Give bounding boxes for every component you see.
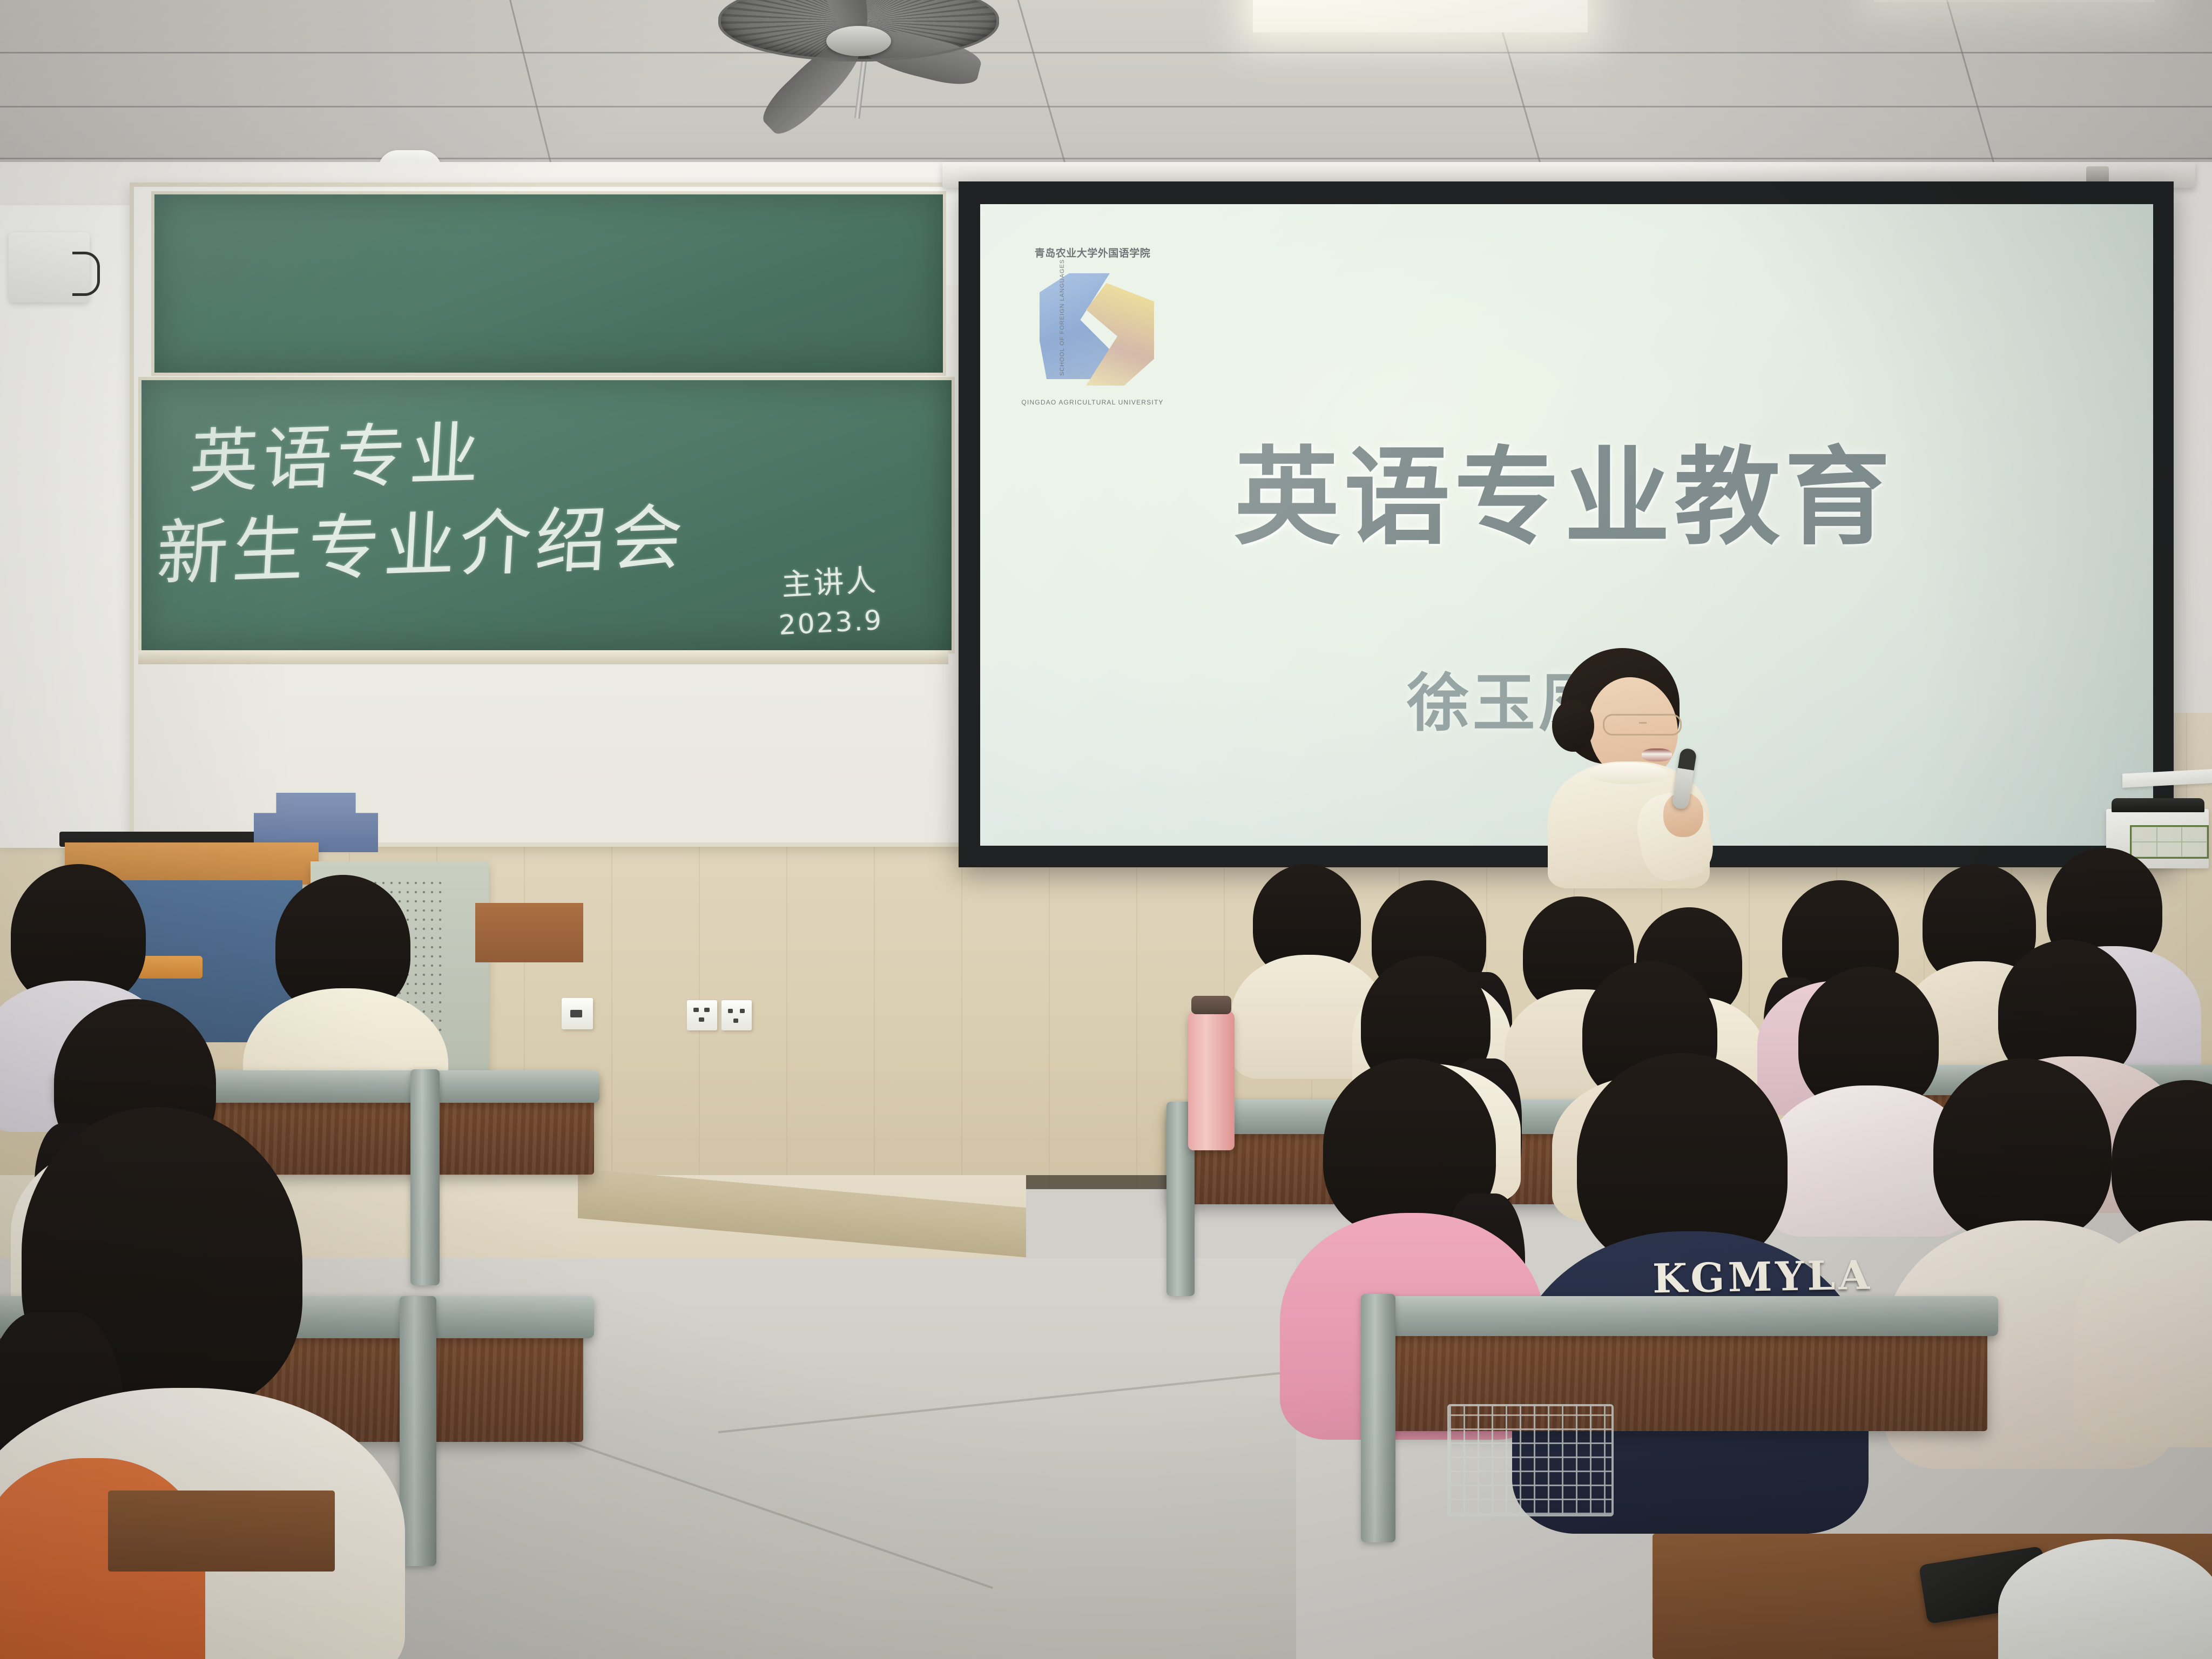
blackboard-date: 2023.9: [778, 604, 884, 641]
logo-english-line-1: SCHOOL OF FOREIGN LANGUAGES: [1059, 259, 1065, 376]
ceiling-fan: [718, 0, 999, 62]
presenter-mouth: [1642, 748, 1672, 761]
slide-title: 英语专业教育: [1234, 412, 1894, 565]
presenter-hair-bun: [1552, 700, 1594, 752]
power-socket-left[interactable]: [687, 1000, 717, 1030]
control-box-label: [2130, 825, 2209, 859]
logo-english-line-2: QINGDAO AGRICULTURAL UNIVERSITY: [1021, 399, 1163, 406]
seat-post-left-mid: [410, 1069, 440, 1285]
seat-back-front-right: [1372, 1296, 1998, 1336]
under-desk-basket: [1447, 1404, 1614, 1516]
led-ceiling-panel: [1253, 0, 1588, 32]
blackboard-speaker-label: 主讲人: [780, 556, 879, 604]
classroom-photo: 英语专业 新生专业介绍会 主讲人 2023.9 青岛农业大学外国语学院 SCHO…: [0, 0, 2212, 1659]
podium-badge: [138, 956, 203, 979]
network-port-outlet[interactable]: [562, 998, 593, 1029]
garment-text: KGMYLA: [1652, 1252, 1873, 1302]
blackboard: 英语专业 新生专业介绍会 主讲人 2023.9: [130, 183, 972, 847]
screen-pull-knob[interactable]: [2086, 166, 2109, 183]
water-bottle: [1188, 1010, 1235, 1150]
logo-chinese-text: 青岛农业大学外国语学院: [1035, 245, 1151, 260]
presenter-glasses-icon: [1603, 714, 1682, 736]
power-socket-right[interactable]: [721, 1000, 752, 1030]
led-ceiling-panel-right: [1874, 0, 2155, 2]
seat-post-left-front: [400, 1296, 436, 1566]
chalk-tray: [138, 650, 948, 664]
control-box-lid[interactable]: [2112, 798, 2204, 812]
presenter-collar: [1589, 763, 1667, 784]
desk-bottom-left: [108, 1491, 335, 1572]
side-desk: [475, 903, 583, 962]
blackboard-line-2: 新生专业介绍会: [154, 480, 690, 600]
ceiling: [0, 0, 2212, 178]
wall-mounted-device: [9, 232, 90, 302]
presenter: [1528, 648, 1755, 886]
blackboard-panel-upper: [151, 191, 946, 376]
seat-post-front-right: [1361, 1294, 1395, 1542]
blackboard-panel-lower: 英语专业 新生专业介绍会 主讲人 2023.9: [138, 377, 955, 653]
university-logo: 青岛农业大学外国语学院 SCHOOL OF FOREIGN LANGUAGES …: [1011, 243, 1174, 405]
